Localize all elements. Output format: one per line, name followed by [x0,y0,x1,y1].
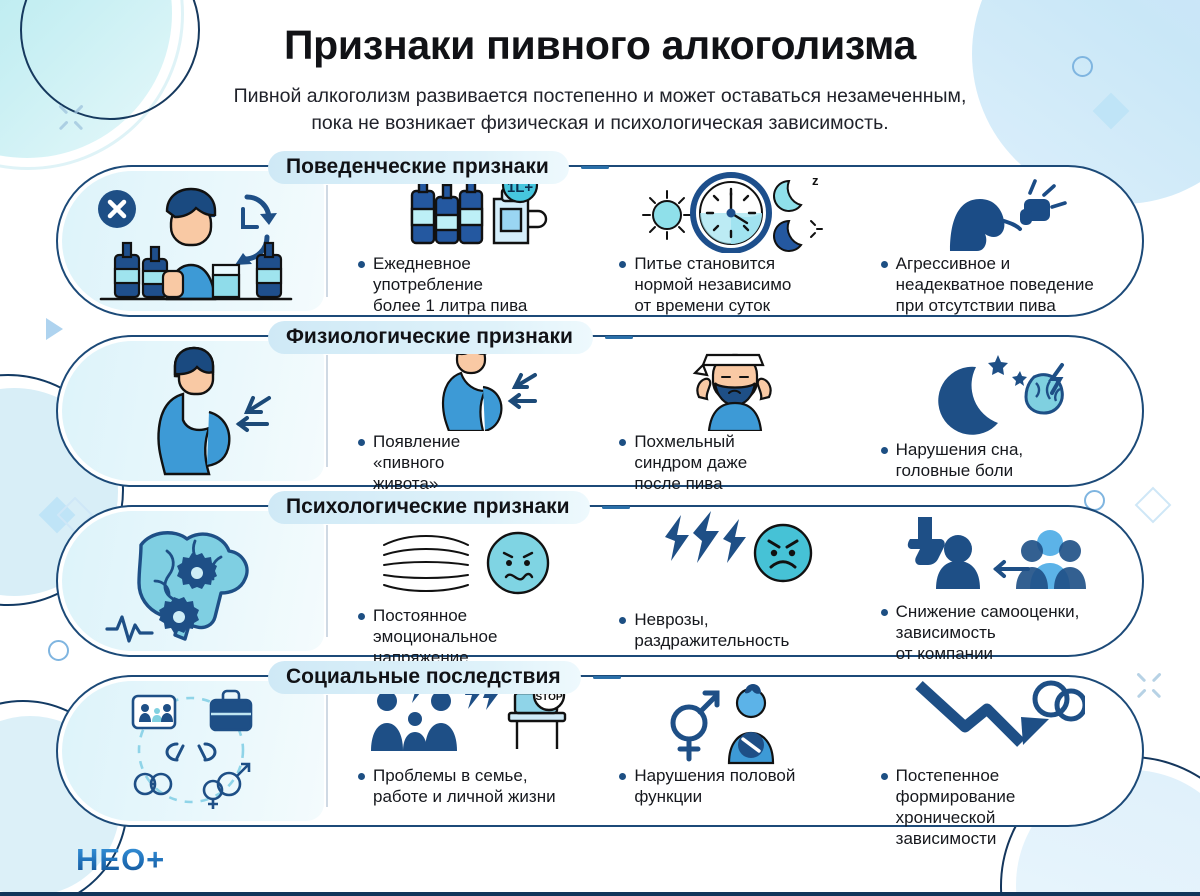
item-line: Проблемы в семье, [373,765,556,786]
list-item: STOP Проблемы в семье, работе и личной ж… [342,679,603,821]
item-line: головные боли [896,460,1023,481]
item-line: Снижение самооценки, [896,601,1080,622]
item-line: употребление [373,274,527,295]
thumbs-down-group-icon [871,509,1120,601]
section-illustration-panel [62,511,324,651]
item-line: эмоциональное [373,626,497,647]
list-item: Нарушения сна, головные боли [865,339,1126,481]
bullet-icon [358,439,365,446]
man-with-big-belly-icon [71,346,315,476]
item-text: Нарушения сна, головные боли [871,439,1120,481]
item-line: Постепенное [896,765,1016,786]
item-text: Появление «пивного живота» [348,431,597,494]
page-header: Признаки пивного алкоголизма Пивной алко… [0,0,1200,137]
section-social: Социальные последствия [56,661,1144,831]
section-divider [326,355,328,467]
item-line: Нарушения сна, [896,439,1023,460]
broken-chain-family-work-icon [71,686,315,816]
item-line: при отсутствии пива [896,295,1094,316]
bullet-icon [881,261,888,268]
aggressive-shouting-person-icon [871,169,1120,253]
section-items: 1L+ Ежедневное употребление более 1 литр… [342,169,1126,311]
item-text: Снижение самооценки, зависимость от комп… [871,601,1120,664]
item-text: Ежедневное употребление более 1 литра пи… [348,253,597,316]
section-divider [326,695,328,807]
svg-text:z: z [812,173,819,188]
item-line: Питье становится [634,253,791,274]
item-line: Неврозы, [634,609,789,630]
list-item: Постепенное формирование хронической зав… [865,679,1126,821]
bottom-rule [0,892,1200,896]
section-heading-psychological: Психологические признаки [268,491,630,524]
section-illustration-panel [62,341,324,481]
clock-sun-moon-icon: z [609,169,858,253]
item-line: неадекватное поведение [896,274,1094,295]
downward-arrow-rings-icon [871,679,1120,765]
item-line: Ежедневное [373,253,527,274]
bullet-icon [881,609,888,616]
section-heading-label: Психологические признаки [268,491,590,524]
item-text: Постепенное формирование хронической зав… [871,765,1120,849]
item-text: Нарушения половой функции [609,765,858,807]
section-items: STOP Проблемы в семье, работе и личной ж… [342,679,1126,821]
item-line: Появление [373,431,460,452]
list-item: 1L+ Ежедневное употребление более 1 литр… [342,169,603,311]
item-text: Неврозы, раздражительность [609,609,858,651]
item-text: Проблемы в семье, работе и личной жизни [348,765,597,807]
item-line: функции [634,786,795,807]
bullet-icon [619,773,626,780]
lightning-angry-face-icon [609,509,858,609]
item-line: Нарушения половой [634,765,795,786]
hangover-headache-man-icon [609,339,858,431]
bullet-icon [358,261,365,268]
item-text: Похмельный синдром даже после пива [609,431,858,494]
bullet-icon [619,439,626,446]
page-title: Признаки пивного алкоголизма [0,22,1200,69]
section-heading-social: Социальные последствия [268,661,621,694]
section-illustration-panel [62,681,324,821]
list-item: Снижение самооценки, зависимость от комп… [865,509,1126,651]
section-divider [326,525,328,637]
list-item: Похмельный синдром даже после пива [603,339,864,481]
bullet-icon [619,617,626,624]
item-line: от времени суток [634,295,791,316]
item-line: «пивного [373,452,460,473]
bullet-icon [881,773,888,780]
item-text: Питье становится нормой независимо от вр… [609,253,858,316]
sections-list: Поведенческие признаки [0,151,1200,831]
section-illustration-panel [62,171,324,311]
section-heading-label: Физиологические признаки [268,321,593,354]
heading-dash [581,166,609,169]
section-heading-label: Поведенческие признаки [268,151,569,184]
section-divider [326,185,328,297]
heading-dash [602,506,630,509]
section-psychological: Психологические признаки [56,491,1144,661]
list-item: z Питье становится нормой независимо от … [603,169,864,311]
man-with-beer-bottles-icon [71,175,315,307]
item-line: более 1 литра пива [373,295,527,316]
item-text: Агрессивное и неадекватное поведение при… [871,253,1120,316]
list-item: Неврозы, раздражительность [603,509,864,651]
item-line: формирование [896,786,1016,807]
list-item: Появление «пивного живота» [342,339,603,481]
bullet-icon [619,261,626,268]
item-line: зависимость [896,622,1080,643]
brand-logo: НЕО+ [76,842,165,878]
item-line: работе и личной жизни [373,786,556,807]
gender-symbol-blocked-icon [609,679,858,765]
item-line: нормой независимо [634,274,791,295]
heading-dash [593,676,621,679]
section-behavioral: Поведенческие признаки [56,151,1144,321]
moon-stars-brain-icon [871,339,1120,439]
bullet-icon [358,773,365,780]
section-items: Постоянное эмоциональное напряжение [342,509,1126,651]
list-item: Постоянное эмоциональное напряжение [342,509,603,651]
item-line: зависимости [896,828,1016,849]
section-heading-physiological: Физиологические признаки [268,321,633,354]
item-line: раздражительность [634,630,789,651]
item-line: Постоянное [373,605,497,626]
item-text: Постоянное эмоциональное напряжение [348,605,597,668]
section-heading-label: Социальные последствия [268,661,581,694]
brain-with-gears-icon [71,517,315,645]
section-heading-behavioral: Поведенческие признаки [268,151,609,184]
bullet-icon [881,447,888,454]
item-line: Агрессивное и [896,253,1094,274]
item-line: Похмельный [634,431,747,452]
page-subtitle: Пивной алкоголизм развивается постепенно… [0,83,1200,137]
item-line: хронической [896,807,1016,828]
list-item: Нарушения половой функции [603,679,864,821]
heading-dash [605,336,633,339]
list-item: Агрессивное и неадекватное поведение при… [865,169,1126,311]
section-items: Появление «пивного живота» [342,339,1126,481]
subtitle-line-1: Пивной алкоголизм развивается постепенно… [0,83,1200,110]
item-line: синдром даже [634,452,747,473]
bullet-icon [358,613,365,620]
subtitle-line-2: пока не возникает физическая и психологи… [0,110,1200,137]
section-physiological: Физиологические признаки [56,321,1144,491]
